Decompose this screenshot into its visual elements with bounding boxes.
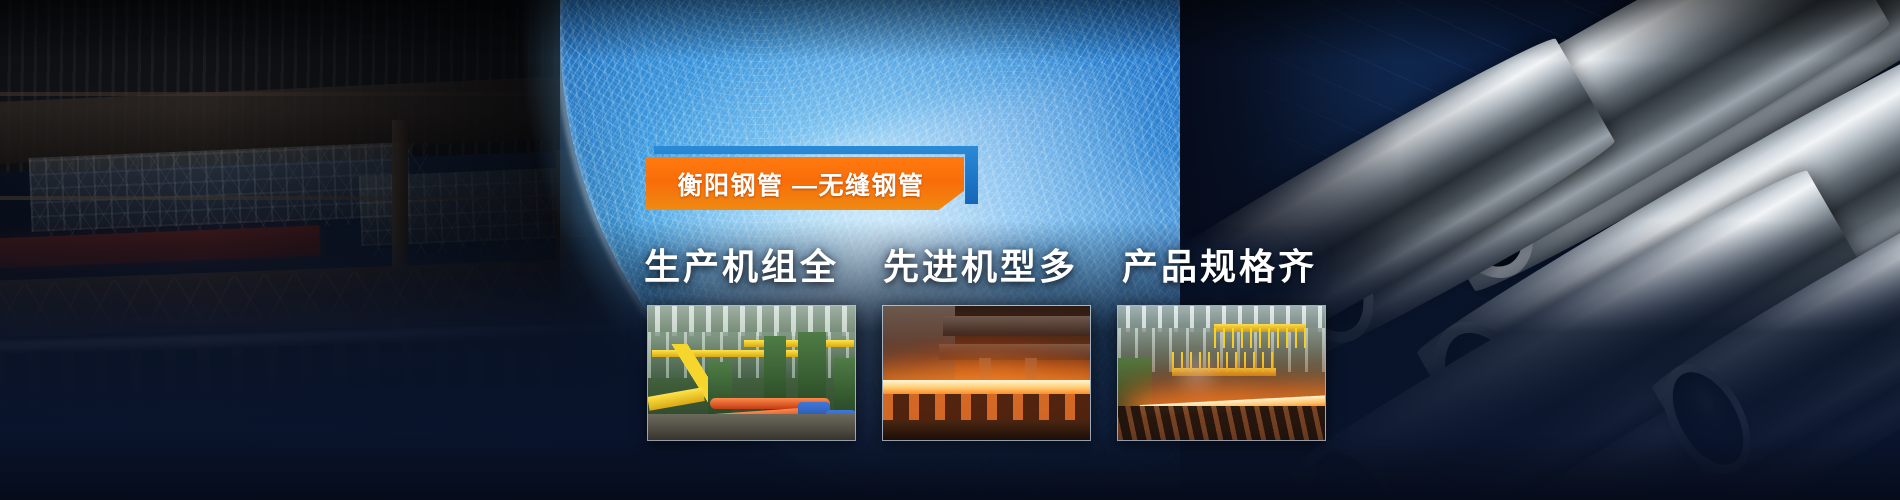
thumbnail-factory-hot-bar[interactable] <box>1117 305 1326 441</box>
hero-banner: 衡阳钢管 —无缝钢管 生产机组全 先进机型多 产品规格齐 <box>0 0 1900 500</box>
badge-orange-box: 衡阳钢管 —无缝钢管 <box>646 157 964 210</box>
brand-badge[interactable]: 衡阳钢管 —无缝钢管 <box>646 146 978 210</box>
thumb1-scene <box>648 306 855 440</box>
thumb2-glowing-billet <box>882 380 1091 394</box>
thumb3-floor <box>1118 406 1325 440</box>
thumbnail-strip <box>647 305 1326 441</box>
headline-group: 生产机组全 先进机型多 产品规格齐 <box>644 238 1317 290</box>
thumb3-scene <box>1118 306 1325 440</box>
thumbnail-hot-steel-billet[interactable] <box>882 305 1091 441</box>
thumbnail-rolling-mill-machinery[interactable] <box>647 305 856 441</box>
headline-item-2: 先进机型多 <box>883 238 1078 290</box>
badge-label: 衡阳钢管 —无缝钢管 <box>678 166 933 202</box>
headline-item-3: 产品规格齐 <box>1122 238 1317 290</box>
thumb2-scene <box>883 306 1090 440</box>
thumb2-floor <box>883 420 1090 440</box>
thumb1-floor <box>648 414 855 440</box>
headline-item-1: 生产机组全 <box>644 238 839 290</box>
